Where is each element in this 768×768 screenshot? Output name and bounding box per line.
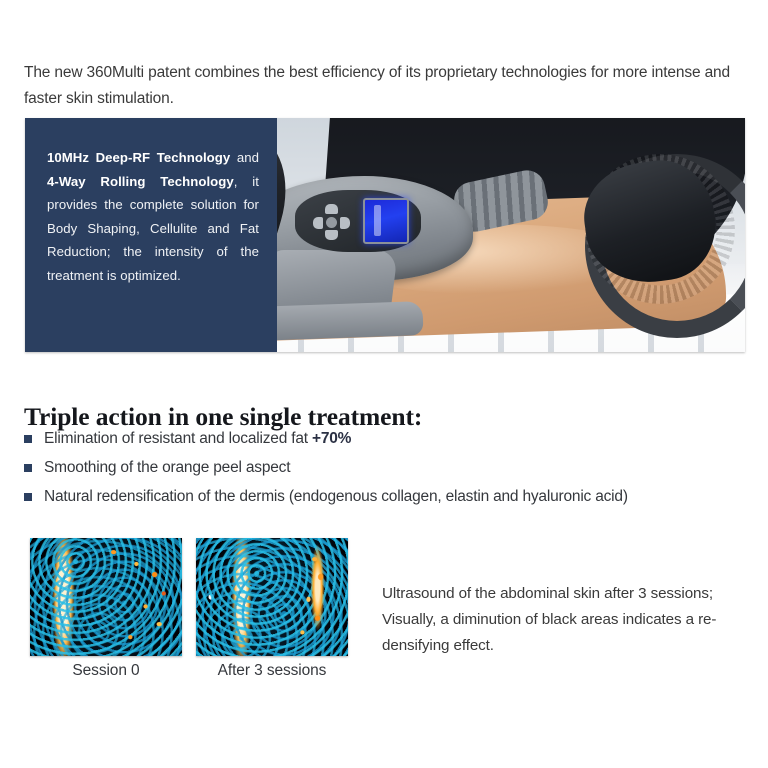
bullet-text: Natural redensification of the dermis (e… [44, 488, 628, 505]
bullet-square-icon [24, 435, 32, 443]
ultrasound-figure-before: Session 0 [30, 538, 182, 680]
ultrasound-figure-after: After 3 sessions [196, 538, 348, 680]
handpiece-lcd-display [363, 198, 409, 244]
tech-conjunction: and [230, 150, 259, 165]
ultrasound-caption: After 3 sessions [196, 662, 348, 680]
ultrasound-speckle [30, 538, 182, 656]
bullet-square-icon [24, 464, 32, 472]
bullet-text: Elimination of resistant and localized f… [44, 430, 312, 447]
ultrasound-note: Ultrasound of the abdominal skin after 3… [382, 581, 750, 659]
list-item: Smoothing of the orange peel aspect [24, 453, 744, 482]
hero-block: 10MHz Deep-RF Technology and 4-Way Rolli… [25, 118, 745, 352]
technology-callout-panel: 10MHz Deep-RF Technology and 4-Way Rolli… [25, 118, 277, 352]
technology-callout-text: 10MHz Deep-RF Technology and 4-Way Rolli… [47, 146, 259, 287]
rf-handpiece-applicator-head [256, 301, 423, 341]
ultrasound-comparison: Session 0 After 3 sessions [30, 538, 348, 680]
tech-bold-2: 4-Way Rolling Technology [47, 174, 234, 189]
dpad-down-icon [325, 230, 338, 240]
tech-rest: , it provides the complete solution for … [47, 174, 259, 283]
triple-action-list: Elimination of resistant and localized f… [24, 424, 744, 511]
list-item: Natural redensification of the dermis (e… [24, 482, 744, 511]
bullet-square-icon [24, 493, 32, 501]
dpad-center-icon [326, 217, 337, 228]
dpad-left-icon [313, 217, 323, 229]
ultrasound-caption: Session 0 [30, 662, 182, 680]
ultrasound-image-after-3-sessions [196, 538, 348, 656]
bullet-text: Smoothing of the orange peel aspect [44, 459, 290, 476]
dpad-icon [313, 204, 349, 240]
ultrasound-speckle [196, 538, 348, 656]
dpad-right-icon [340, 217, 350, 229]
dpad-up-icon [325, 204, 338, 214]
list-item: Elimination of resistant and localized f… [24, 424, 744, 453]
intro-paragraph: The new 360Multi patent combines the bes… [24, 60, 750, 112]
bullet-emphasis: +70% [312, 430, 351, 447]
ultrasound-image-session-0 [30, 538, 182, 656]
tech-bold-1: 10MHz Deep-RF Technology [47, 150, 230, 165]
